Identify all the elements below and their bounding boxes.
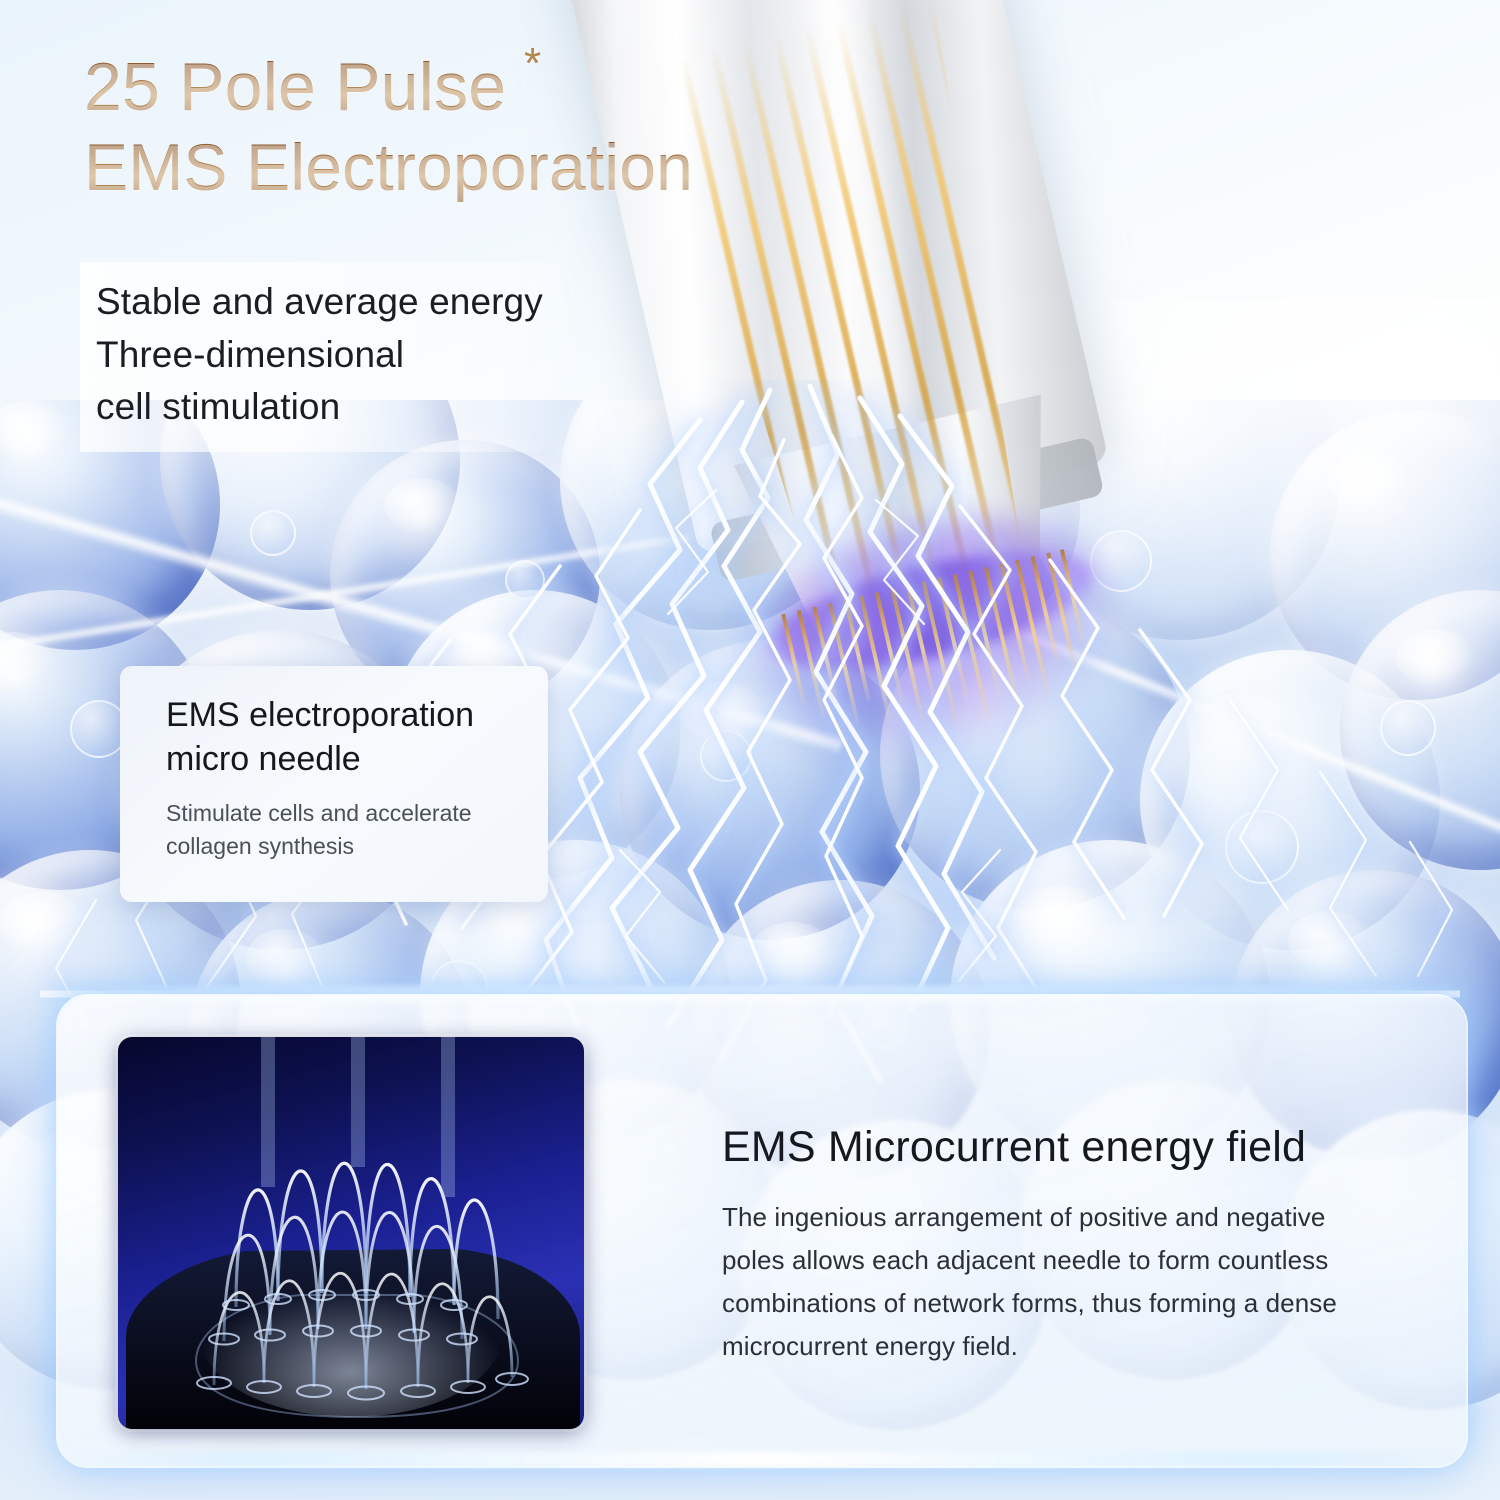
subtitle-line-3: cell stimulation — [96, 381, 543, 434]
title-line-1: 25 Pole Pulse — [84, 52, 693, 122]
title-line-2: EMS Electroporation — [84, 134, 693, 202]
bottom-right-text-block: EMS Microcurrent energy field The ingeni… — [722, 1122, 1442, 1368]
bottom-right-body-line-2: poles allows each adjacent needle to for… — [722, 1239, 1442, 1282]
panel-bottom-glow — [48, 1452, 1472, 1466]
subtitle-block: Stable and average energy Three-dimensio… — [80, 262, 565, 452]
feature-card-micro-needle: EMS electroporation micro needle Stimula… — [120, 666, 548, 902]
feature-card-body: Stimulate cells and accelerate collagen … — [166, 797, 522, 862]
feature-card-body-line-2: collagen synthesis — [166, 830, 522, 863]
feature-card-title: EMS electroporation micro needle — [166, 694, 522, 781]
subtitle-line-2: Three-dimensional — [96, 329, 543, 382]
bottom-right-title: EMS Microcurrent energy field — [722, 1122, 1442, 1174]
asterisk-mark: * — [524, 42, 541, 86]
bottom-right-body: The ingenious arrangement of positive an… — [722, 1196, 1442, 1369]
product-feature-poster: * 25 Pole Pulse EMS Electroporation Stab… — [0, 0, 1500, 1500]
feature-card-title-line-1: EMS electroporation — [166, 694, 522, 738]
subtitle-line-1: Stable and average energy — [96, 276, 543, 329]
needle-array-illustration — [118, 1037, 584, 1429]
feature-card-title-line-2: micro needle — [166, 738, 522, 782]
feature-card-body-line-1: Stimulate cells and accelerate — [166, 797, 522, 830]
bottom-right-body-line-1: The ingenious arrangement of positive an… — [722, 1196, 1442, 1239]
bottom-right-body-line-3: combinations of network forms, thus form… — [722, 1282, 1442, 1325]
bottom-right-body-line-4: microcurrent energy field. — [722, 1325, 1442, 1368]
page-title: * 25 Pole Pulse EMS Electroporation — [84, 52, 693, 202]
